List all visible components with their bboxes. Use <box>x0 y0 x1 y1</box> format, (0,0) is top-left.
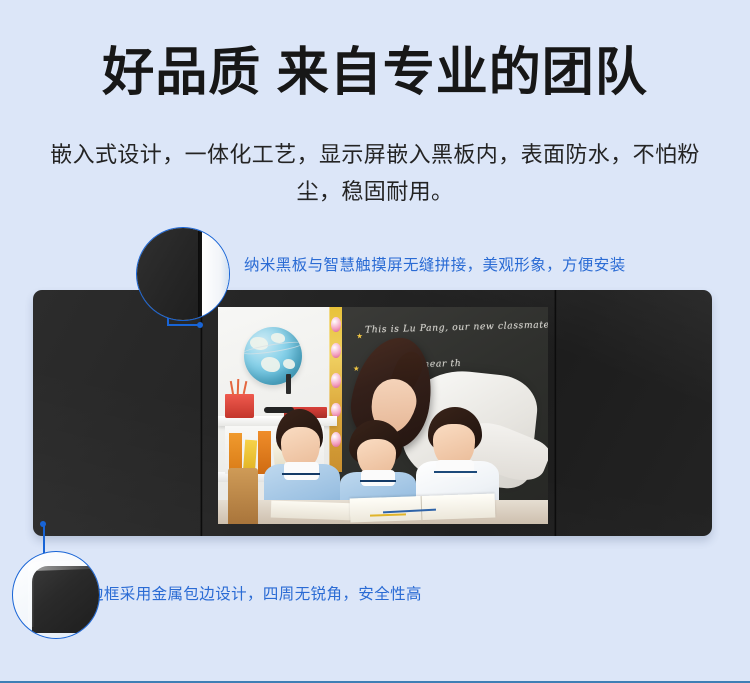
leader-dot-bottom <box>40 521 46 527</box>
annotation-label-bezel: 边框采用金属包边设计，四周无锐角，安全性高 <box>88 585 422 605</box>
leader-dot-top <box>197 322 203 328</box>
nano-blackboard: This is Lu Pang, our new classmate nt? I… <box>33 290 712 536</box>
decor-dot <box>331 343 341 358</box>
callout-bubble-bezel <box>12 551 100 639</box>
decor-dot <box>331 317 341 332</box>
callout-corner-edge <box>28 563 35 627</box>
page-title: 好品质 来自专业的团队 <box>0 42 750 104</box>
display-screen: This is Lu Pang, our new classmate nt? I… <box>218 307 548 524</box>
callout-bubble-seam <box>136 227 230 321</box>
globe <box>244 327 302 385</box>
classroom-photo: This is Lu Pang, our new classmate nt? I… <box>218 307 548 524</box>
book-on-desk-left <box>271 501 357 521</box>
annotation-label-seam: 纳米黑板与智慧触摸屏无缝拼接，美观形象，方便安装 <box>244 256 626 276</box>
pencil-cup <box>225 394 255 418</box>
callout-rounded-corner <box>32 566 99 633</box>
leader-line-horizontal-top <box>167 324 201 326</box>
open-book <box>350 493 496 522</box>
decor-dot <box>331 373 341 388</box>
globe-stand <box>286 374 291 394</box>
embedded-touch-display[interactable]: This is Lu Pang, our new classmate nt? I… <box>218 307 548 524</box>
page-subtitle: 嵌入式设计，一体化工艺，显示屏嵌入黑板内，表面防水，不怕粉尘，稳固耐用。 <box>40 136 710 210</box>
callout-seam-dark-side <box>137 228 198 320</box>
panel-seam-right <box>554 290 557 536</box>
callout-seam-light-side <box>202 228 229 320</box>
chair <box>228 468 258 524</box>
promo-canvas: 好品质 来自专业的团队 嵌入式设计，一体化工艺，显示屏嵌入黑板内，表面防水，不怕… <box>0 0 750 683</box>
leader-line-vertical-bottom <box>43 525 45 553</box>
